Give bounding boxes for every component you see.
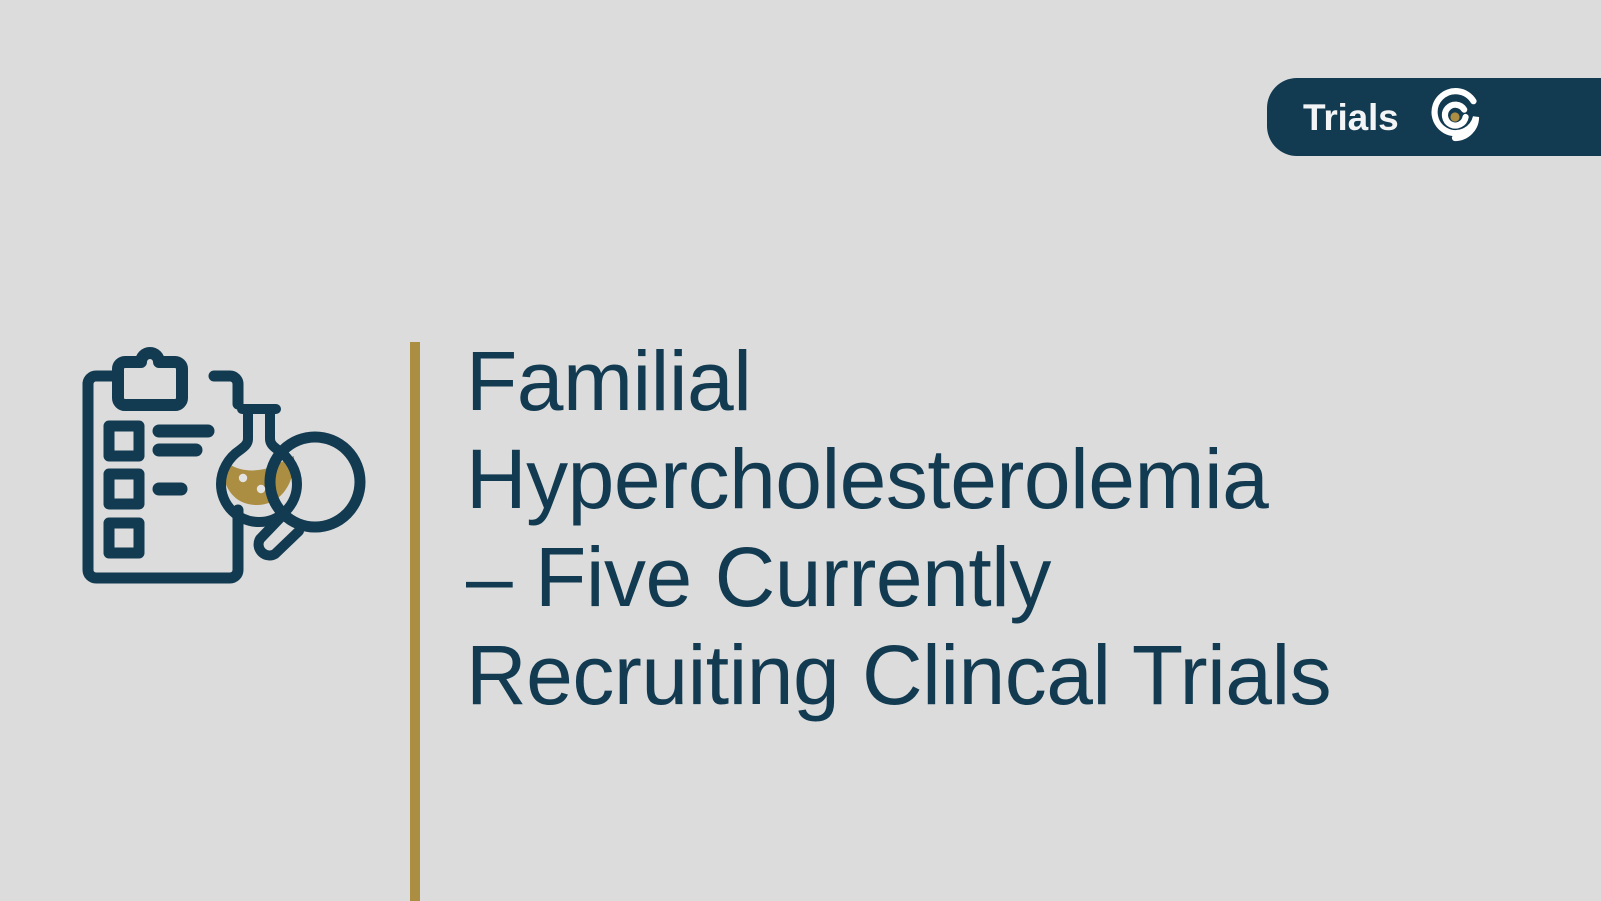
page-title: Familial Hypercholesterolemia – Five Cur… <box>466 332 1546 724</box>
clipboard-checkbox-3 <box>109 523 139 553</box>
flask-liquid <box>223 456 294 505</box>
clipboard-board-topright <box>214 376 238 404</box>
clipboard-checklist-flask-magnifier-icon <box>62 332 380 590</box>
hero-illustration <box>62 332 380 590</box>
clipboard-clip <box>118 353 182 405</box>
page-title-line-1: Familial <box>466 332 1546 430</box>
clipboard-checkbox-2 <box>109 474 139 504</box>
gold-vertical-divider <box>410 342 420 901</box>
spiral-g-logo-icon <box>1426 88 1484 146</box>
flask-bubble-2 <box>257 485 265 493</box>
page-title-line-2: Hypercholesterolemia <box>466 430 1546 528</box>
brand-badge-label: Trials <box>1303 99 1398 136</box>
page-title-line-4: Recruiting Clincal Trials <box>466 626 1546 724</box>
page-title-line-3: – Five Currently <box>466 528 1546 626</box>
flask-bubble-1 <box>239 474 247 482</box>
brand-badge[interactable]: Trials <box>1267 78 1601 156</box>
clipboard-checkbox-1 <box>109 426 139 456</box>
